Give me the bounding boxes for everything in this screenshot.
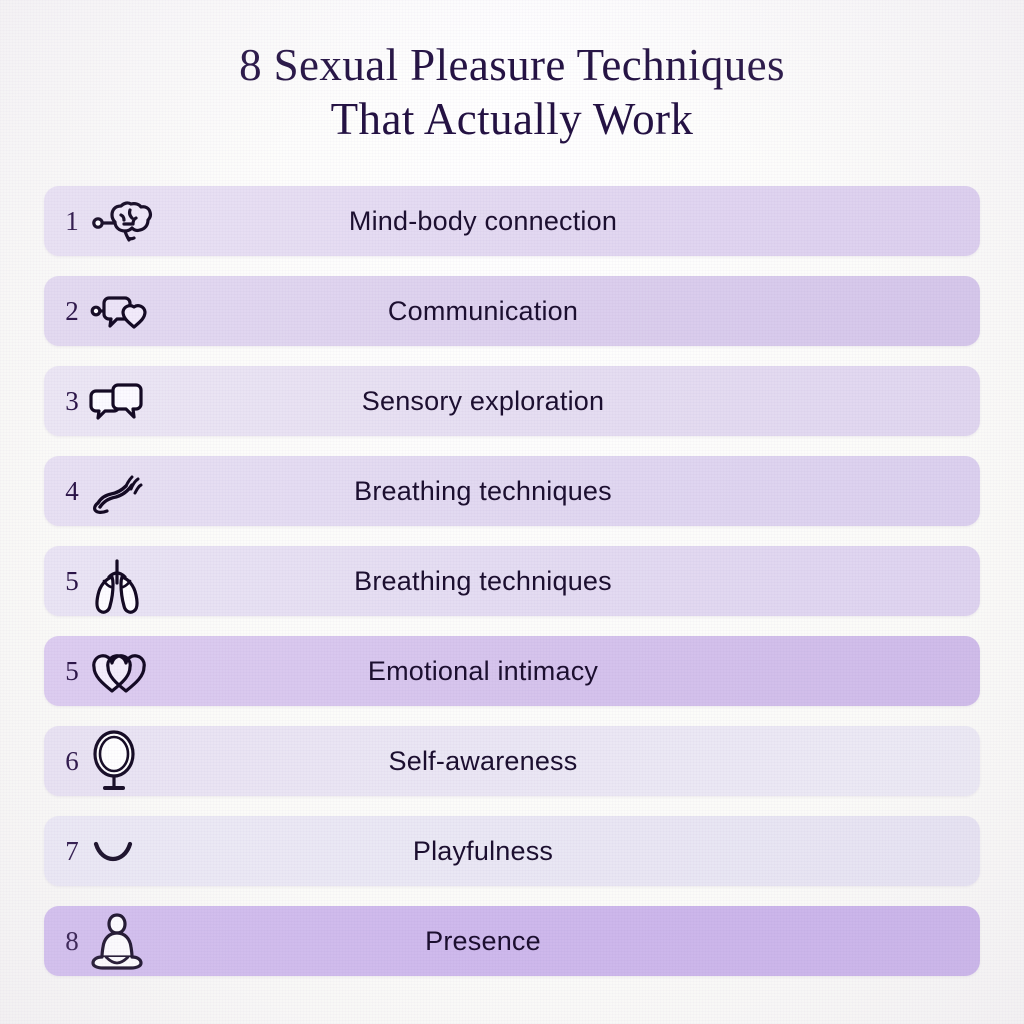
mirror-icon — [90, 726, 166, 796]
technique-label: Breathing techniques — [166, 476, 980, 507]
speech-bubble-heart-icon — [90, 276, 166, 346]
technique-row: 7Playfulness — [44, 816, 980, 886]
technique-label: Sensory exploration — [166, 386, 980, 417]
technique-row: 4Breathing techniques — [44, 456, 980, 526]
technique-list: 1Mind-body connection2Communication3Sens… — [44, 186, 980, 996]
title-line-2: That Actually Work — [0, 92, 1024, 146]
page-title: 8 Sexual Pleasure Techniques That Actual… — [0, 38, 1024, 146]
open-hand-icon — [90, 456, 166, 526]
meditating-person-icon — [90, 906, 166, 976]
lungs-icon — [90, 546, 166, 616]
technique-label: Presence — [166, 926, 980, 957]
technique-number: 2 — [44, 296, 90, 327]
technique-row: 8Presence — [44, 906, 980, 976]
speech-bubbles-icon — [90, 366, 166, 436]
infographic-poster: 8 Sexual Pleasure Techniques That Actual… — [0, 0, 1024, 1024]
technique-row: 5Emotional intimacy — [44, 636, 980, 706]
technique-number: 5 — [44, 566, 90, 597]
technique-label: Emotional intimacy — [166, 656, 980, 687]
technique-number: 4 — [44, 476, 90, 507]
title-line-1: 8 Sexual Pleasure Techniques — [0, 38, 1024, 92]
technique-row: 1Mind-body connection — [44, 186, 980, 256]
technique-row: 5Breathing techniques — [44, 546, 980, 616]
technique-label: Self-awareness — [166, 746, 980, 777]
smile-icon — [90, 816, 166, 886]
technique-number: 5 — [44, 656, 90, 687]
interlocking-hearts-icon — [90, 636, 166, 706]
technique-number: 8 — [44, 926, 90, 957]
technique-label: Playfulness — [166, 836, 980, 867]
technique-number: 6 — [44, 746, 90, 777]
technique-label: Communication — [166, 296, 980, 327]
brain-icon — [90, 186, 166, 256]
technique-label: Mind-body connection — [166, 206, 980, 237]
technique-number: 1 — [44, 206, 90, 237]
technique-number: 3 — [44, 386, 90, 417]
technique-number: 7 — [44, 836, 90, 867]
technique-label: Breathing techniques — [166, 566, 980, 597]
technique-row: 3Sensory exploration — [44, 366, 980, 436]
technique-row: 6Self-awareness — [44, 726, 980, 796]
technique-row: 2Communication — [44, 276, 980, 346]
